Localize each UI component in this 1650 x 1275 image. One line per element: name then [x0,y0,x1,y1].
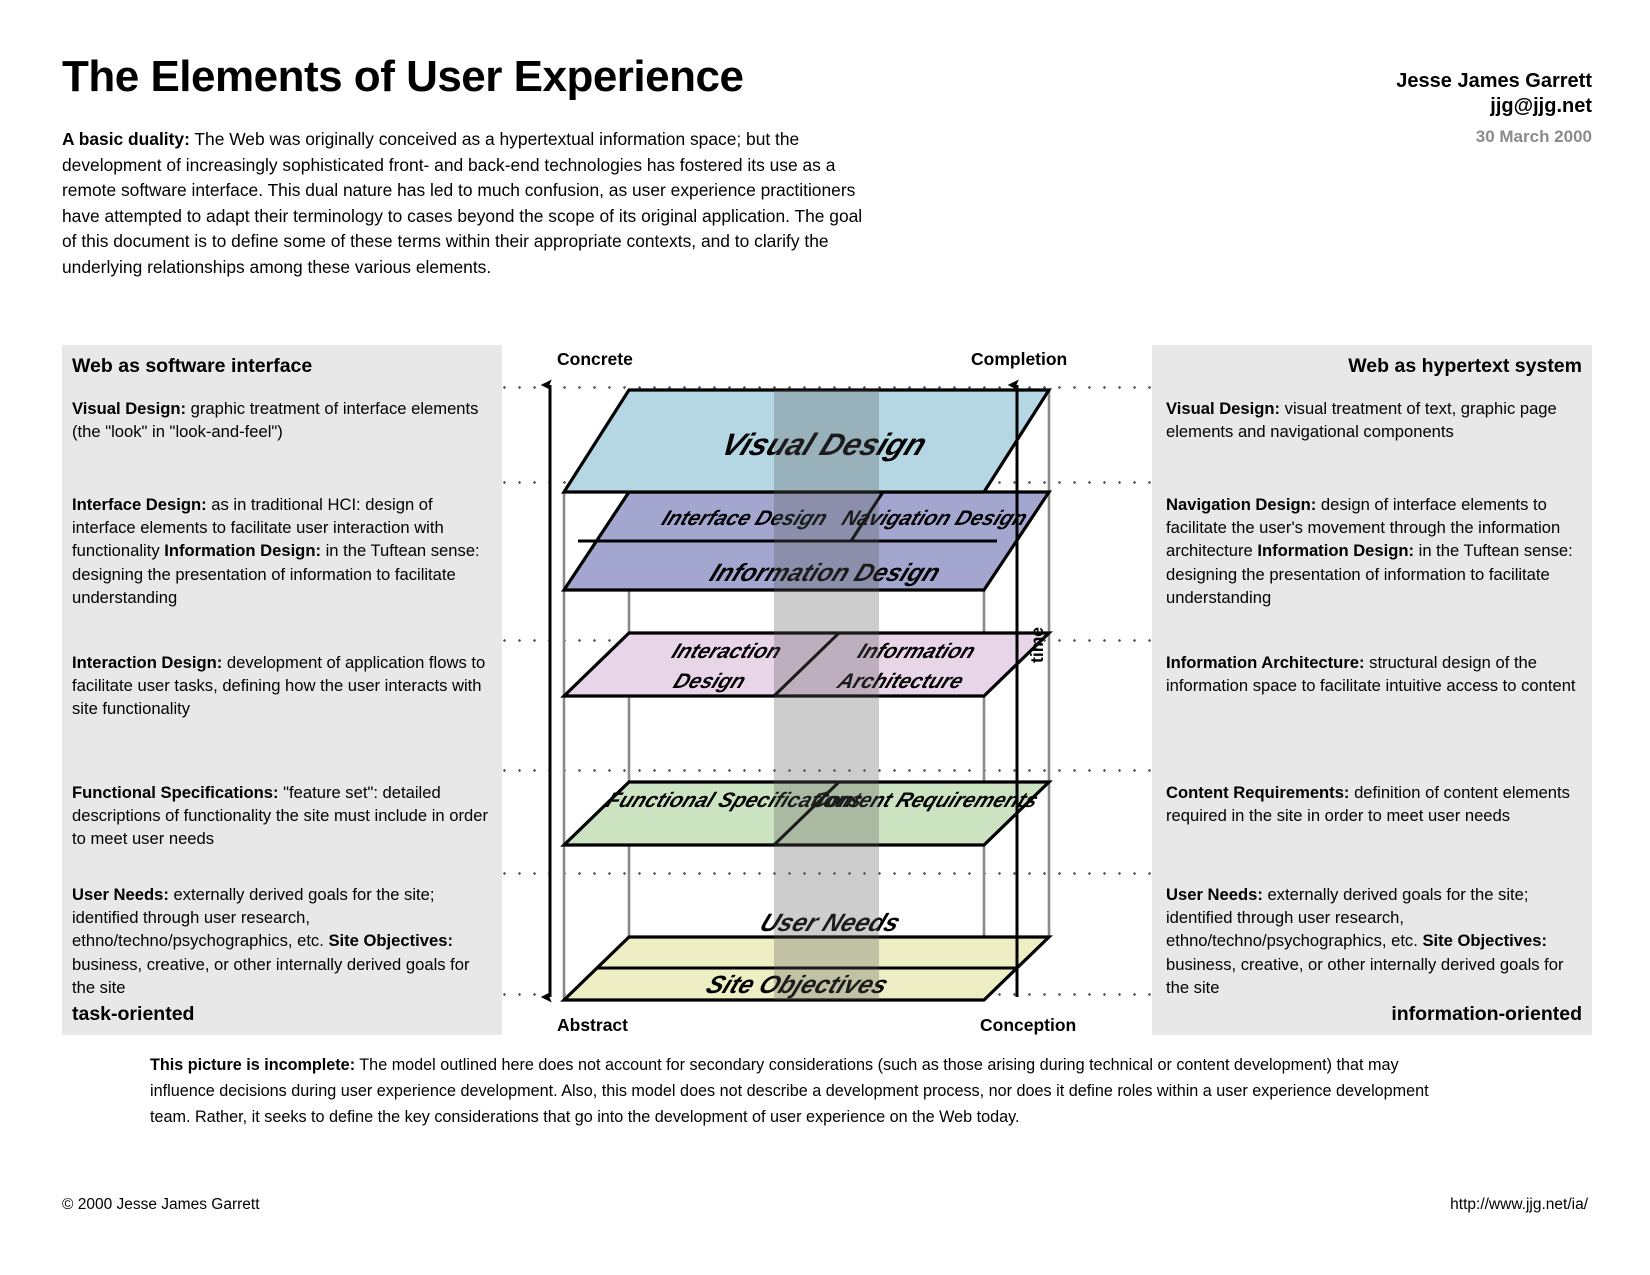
left-blurb-interaction-design: Interaction Design: development of appli… [72,651,496,721]
document-date: 30 March 2000 [1396,127,1592,147]
left-column-heading: Web as software interface [62,345,502,387]
copyright-notice: © 2000 Jesse James Garrett [62,1196,260,1214]
intro-paragraph: A basic duality: The Web was originally … [62,127,872,280]
right-column-heading: Web as hypertext system [1152,345,1592,387]
left-blurb-functional-specifications: Functional Specifications: "feature set"… [72,781,496,851]
diagram-svg: .pl { stroke:#000; stroke-width:3.2; str… [502,345,1152,1035]
right-blurb-user-needs-site-objectives: User Needs: externally derived goals for… [1166,883,1586,999]
left-blurb-interface-information-design: Interface Design: as in traditional HCI:… [72,493,496,609]
intro-body: The Web was originally conceived as a hy… [62,129,862,277]
author-block: Jesse James Garrett jjg@jjg.net 30 March… [1396,69,1592,147]
plane-label-interaction-1: Interaction [668,639,785,663]
grey-focus-band [774,390,879,1000]
right-blurb-information-architecture: Information Architecture: structural des… [1166,651,1586,697]
left-blurb-visual-design: Visual Design: graphic treatment of inte… [72,397,496,443]
axis-label-time: time [1027,627,1048,663]
left-column: Web as software interface Visual Design:… [62,345,502,1035]
intro-lead: A basic duality: [62,129,190,149]
right-column: Web as hypertext system Visual Design: v… [1152,345,1592,1035]
document-header: The Elements of User Experience Jesse Ja… [62,55,1592,315]
right-blurb-navigation-information-design: Navigation Design: design of interface e… [1166,493,1586,609]
page-title: The Elements of User Experience [62,55,1592,99]
right-blurb-visual-design: Visual Design: visual treatment of text,… [1166,397,1586,443]
left-column-footer: task-oriented [62,993,502,1035]
author-email[interactable]: jjg@jjg.net [1396,94,1592,119]
right-column-footer: information-oriented [1152,993,1592,1035]
left-blurb-user-needs-site-objectives: User Needs: externally derived goals for… [72,883,496,999]
plane-label-interaction-2: Design [670,669,750,693]
source-url[interactable]: http://www.jjg.net/ia/ [1450,1196,1588,1214]
elements-diagram: Concrete Abstract Completion Conception … [502,345,1152,1035]
author-name: Jesse James Garrett [1396,69,1592,94]
footnote: This picture is incomplete: The model ou… [150,1052,1450,1131]
footnote-lead: This picture is incomplete: [150,1056,355,1074]
diagram-frame: Web as software interface Visual Design:… [62,345,1592,1035]
right-blurb-content-requirements: Content Requirements: definition of cont… [1166,781,1586,827]
